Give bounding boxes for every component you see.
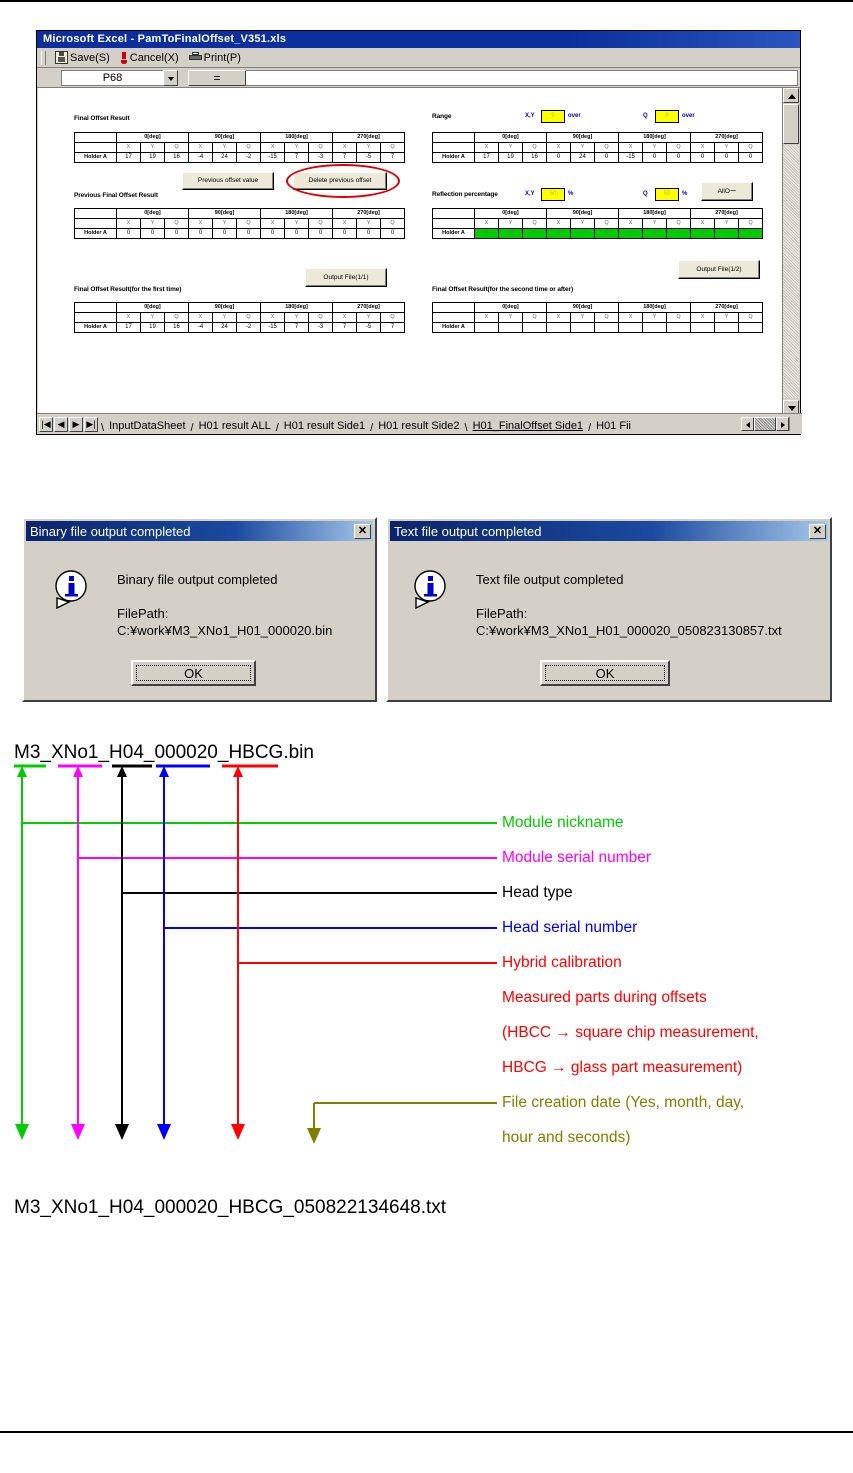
text-filename-label: M3_XNo1_H04_000020_HBCG_050822134648.txt (14, 1197, 446, 1219)
legend-measured-parts: Measured parts during offsets (502, 990, 707, 1006)
legend-module-serial-number: Module serial number (502, 850, 651, 866)
legend-hbcg-note: HBCG → glass part measurement) (502, 1060, 742, 1076)
legend-hbcc-note: (HBCC → square chip measurement, (502, 1025, 759, 1041)
annotation-green (14, 766, 497, 1140)
filename-annotation-diagram (0, 0, 853, 1473)
legend-head-serial-number: Head serial number (502, 920, 637, 936)
legend-head-type: Head type (502, 885, 573, 901)
annotation-olive (307, 1103, 497, 1144)
legend-file-creation-date-cont: hour and seconds) (502, 1130, 630, 1146)
page-root: Microsoft Excel - PamToFinalOffset_V351.… (0, 0, 853, 1473)
legend-module-nickname: Module nickname (502, 815, 623, 831)
legend-file-creation-date: File creation date (Yes, month, day, (502, 1095, 744, 1111)
legend-hybrid-calibration: Hybrid calibration (502, 955, 622, 971)
